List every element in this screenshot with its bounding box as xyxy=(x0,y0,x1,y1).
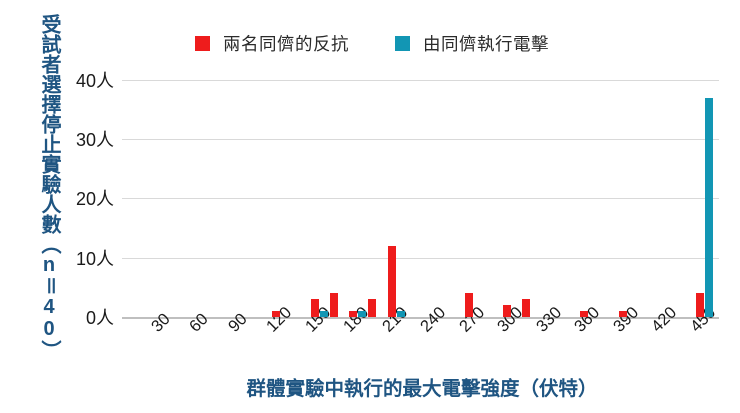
bar xyxy=(272,311,280,317)
bar xyxy=(465,293,473,317)
bar xyxy=(397,311,405,317)
y-axis-tick-label: 10人 xyxy=(52,245,114,271)
bar-chart: 兩名同儕的反抗 由同儕執行電擊 受試者選擇停止實驗人數（n＝40） 0人10人2… xyxy=(0,0,740,413)
gridline xyxy=(122,139,719,140)
legend-item-0[interactable]: 兩名同儕的反抗 xyxy=(195,31,349,56)
gridline xyxy=(122,198,719,199)
square-swatch-icon xyxy=(195,36,210,51)
bar xyxy=(320,311,328,317)
y-axis-tick-label: 40人 xyxy=(52,67,114,93)
square-swatch-icon xyxy=(395,36,410,51)
bar xyxy=(522,299,530,317)
x-axis-title: 群體實驗中執行的最大電擊強度（伏特） xyxy=(122,372,722,401)
bar xyxy=(619,311,627,317)
legend-item-1[interactable]: 由同儕執行電擊 xyxy=(395,31,549,56)
gridline xyxy=(122,258,719,259)
bar xyxy=(503,305,511,317)
bar xyxy=(580,311,588,317)
bar xyxy=(311,299,319,317)
bar xyxy=(388,246,396,317)
bar xyxy=(368,299,376,317)
plot-area xyxy=(122,74,719,317)
bar xyxy=(705,98,713,317)
legend-item-label: 兩名同儕的反抗 xyxy=(223,31,349,56)
y-axis-tick-labels: 0人10人20人30人40人 xyxy=(48,74,114,317)
bar xyxy=(358,311,366,317)
chart-legend: 兩名同儕的反抗 由同儕執行電擊 xyxy=(195,26,615,60)
x-axis-tick-labels: 3060901201501802102402703003303603904204… xyxy=(122,319,719,373)
bar xyxy=(330,293,338,317)
bar xyxy=(349,311,357,317)
y-axis-tick-label: 0人 xyxy=(52,304,114,330)
bar xyxy=(696,293,704,317)
y-axis-tick-label: 30人 xyxy=(52,126,114,152)
legend-item-label: 由同儕執行電擊 xyxy=(423,31,549,56)
gridline xyxy=(122,80,719,81)
y-axis-tick-label: 20人 xyxy=(52,185,114,211)
